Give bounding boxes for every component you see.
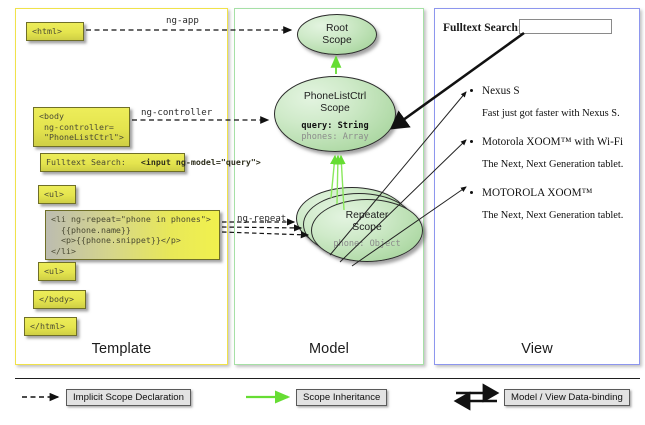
bullet-icon [470,140,473,143]
list-item-name: Nexus S [482,85,635,97]
code-box-html-close[interactable]: </html> [24,317,77,336]
list-item[interactable]: MOTOROLA XOOM™ [470,187,635,210]
scope-phonelistctrl[interactable]: PhoneListCtrl Scope query: String phones… [274,76,396,152]
list-item-name: Motorola XOOM™ with Wi-Fi [482,136,635,148]
bullet-icon [470,89,473,92]
view-search-input[interactable] [519,19,612,34]
list-item[interactable]: Motorola XOOM™ with Wi-Fi [470,136,635,159]
edge-label-ng-repeat: ng-repeat [237,214,286,224]
code-box-li-ng-repeat[interactable]: <li ng-repeat="phone in phones"> {{phone… [45,210,220,260]
list-item[interactable]: Nexus S [470,85,635,108]
legend-item-implicit-scope-declaration: Implicit Scope Declaration [66,389,191,406]
scope-repeater-prop-phone: phone: Object [312,239,422,249]
code-box-search-directive: <input ng-model="query"> [126,157,261,167]
bullet-icon [470,191,473,194]
code-box-search-input[interactable]: Fulltext Search: <input ng-model="query"… [40,153,185,172]
code-box-html-open[interactable]: <html> [26,22,84,41]
panel-view-caption: View [435,341,639,357]
diagram-canvas: Template Model View <html> <body ng-cont… [0,0,645,425]
view-phone-list: Nexus S Fast just got faster with Nexus … [470,85,635,238]
code-box-ul-close[interactable]: <ul> [38,262,76,281]
scope-repeater[interactable]: Repeater Scope phone: Object [311,199,423,262]
panel-template-caption: Template [16,341,227,357]
panel-model-caption: Model [235,341,423,357]
code-box-search-label: Fulltext Search: [46,157,126,167]
scope-repeater-title-2: Scope [312,222,422,234]
scope-ctrl-prop-query: query: String [275,121,395,131]
legend-item-model-view-data-binding: Model / View Data-binding [504,389,630,406]
view-search-label: Fulltext Search: [443,22,522,34]
edge-label-ng-app: ng-app [166,16,199,26]
list-item-snippet: The Next, Next Generation tablet. [482,210,635,238]
list-item-snippet: The Next, Next Generation tablet. [482,159,635,187]
code-box-body-open[interactable]: <body ng-controller= "PhoneListCtrl"> [33,107,130,147]
legend-divider [15,378,640,379]
scope-root-title-2: Scope [298,35,376,47]
scope-root-title-1: Root [298,23,376,35]
scope-ctrl-title-2: Scope [275,103,395,115]
scope-ctrl-prop-phones: phones: Array [275,132,395,142]
code-box-body-close[interactable]: </body> [33,290,86,309]
edge-label-ng-controller: ng-controller [141,108,212,118]
panel-model: Model [234,8,424,365]
scope-repeater-title-1: Repeater [312,210,422,222]
legend-item-scope-inheritance: Scope Inheritance [296,389,387,406]
list-item-snippet: Fast just got faster with Nexus S. [482,108,635,136]
scope-root[interactable]: Root Scope [297,14,377,55]
scope-ctrl-title-1: PhoneListCtrl [275,91,395,103]
list-item-name: MOTOROLA XOOM™ [482,187,635,199]
code-box-ul-open[interactable]: <ul> [38,185,76,204]
